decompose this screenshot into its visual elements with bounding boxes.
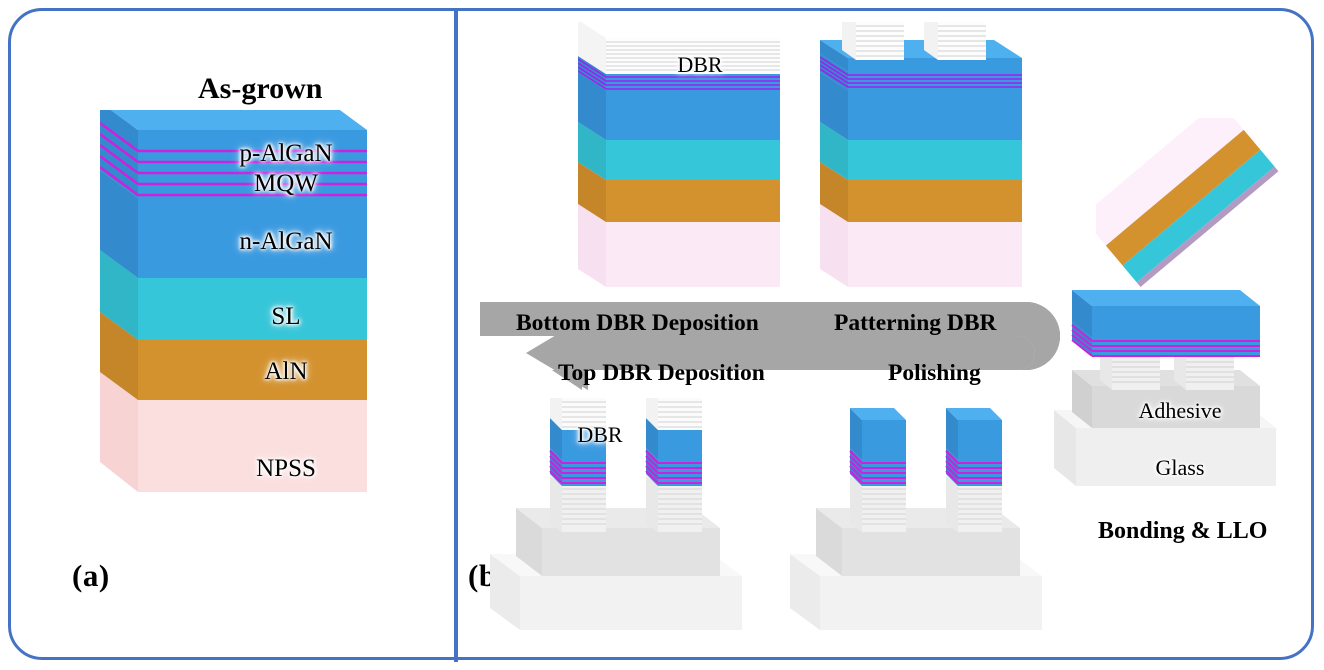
stack-polishing	[790, 398, 1090, 658]
panel-a-tag: (a)	[72, 558, 110, 594]
process-step-top-dbr-deposition: Top DBR Deposition	[558, 360, 765, 387]
process-step-polishing: Polishing	[888, 360, 981, 387]
bonded-device-on-glass	[1054, 278, 1314, 528]
process-step-patterning-dbr: Patterning DBR	[834, 310, 997, 337]
panel-divider	[454, 8, 458, 662]
as-grown-stack	[100, 110, 410, 520]
panel-a-title: As-grown	[198, 72, 322, 106]
stack-bottom-dbr-deposition	[578, 22, 818, 302]
stack-top-dbr-deposition	[490, 398, 790, 658]
bonding-llo-caption: Bonding & LLO	[1098, 518, 1267, 545]
process-step-bottom-dbr-deposition: Bottom DBR Deposition	[516, 310, 759, 337]
stack-patterned-dbr	[820, 22, 1070, 302]
